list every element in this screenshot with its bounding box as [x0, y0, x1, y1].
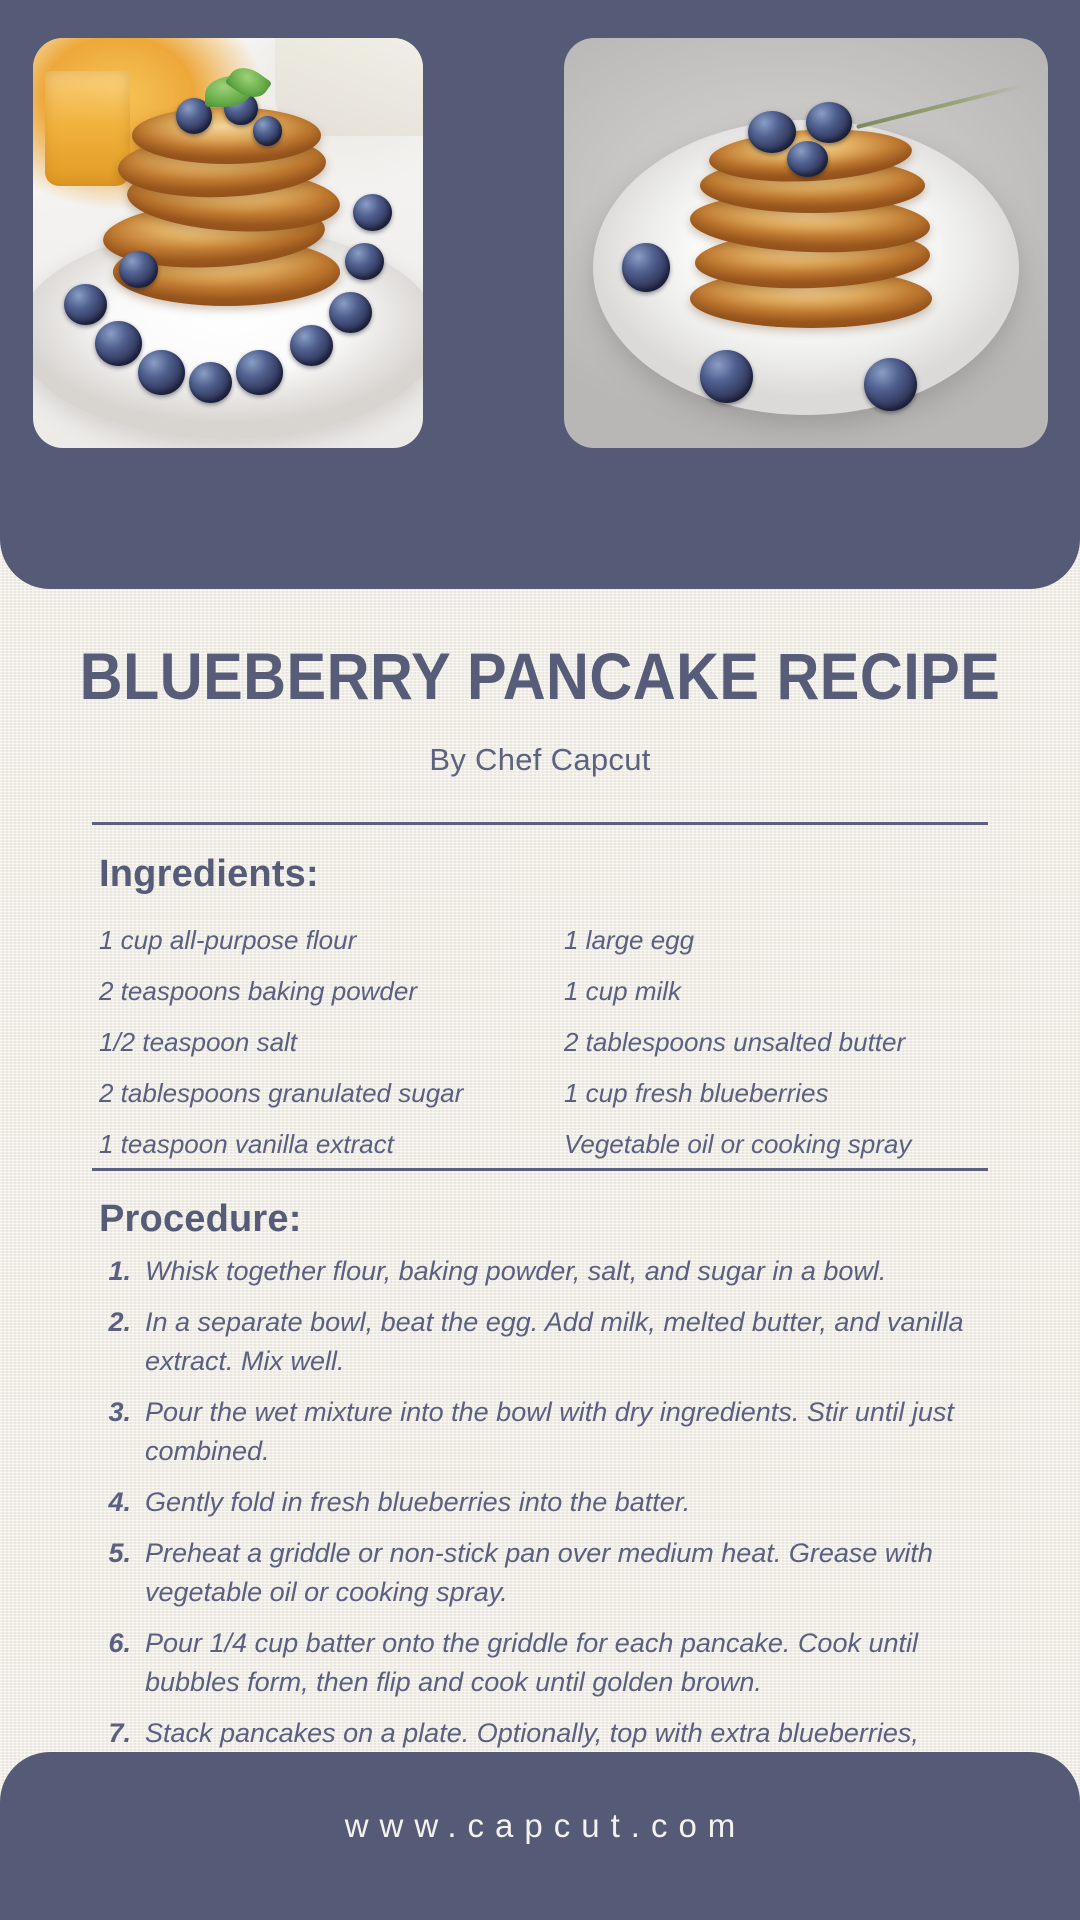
step-number: 4. — [99, 1483, 145, 1522]
header-band — [0, 0, 1080, 589]
step-text: Pour 1/4 cup batter onto the griddle for… — [145, 1624, 999, 1702]
procedure-step: 6. Pour 1/4 cup batter onto the griddle … — [99, 1624, 999, 1702]
step-number: 1. — [99, 1252, 145, 1291]
procedure-step: 2. In a separate bowl, beat the egg. Add… — [99, 1303, 999, 1381]
ingredients-heading: Ingredients: — [99, 853, 319, 896]
page-title: BLUEBERRY PANCAKE RECIPE — [54, 638, 1026, 714]
procedure-heading: Procedure: — [99, 1198, 302, 1241]
step-number: 5. — [99, 1534, 145, 1573]
ingredient-item: 1 cup fresh blueberries — [564, 1068, 979, 1119]
step-text: Whisk together flour, baking powder, sal… — [145, 1252, 999, 1291]
ingredient-item: 1 teaspoon vanilla extract — [99, 1119, 564, 1170]
ingredient-item: 2 tablespoons unsalted butter — [564, 1017, 979, 1068]
footer-band: www.capcut.com — [0, 1752, 1080, 1920]
step-number: 6. — [99, 1624, 145, 1663]
ingredient-item: 1/2 teaspoon salt — [99, 1017, 564, 1068]
step-text: In a separate bowl, beat the egg. Add mi… — [145, 1303, 999, 1381]
step-text: Gently fold in fresh blueberries into th… — [145, 1483, 999, 1522]
divider-above-procedure — [92, 1168, 988, 1171]
procedure-step: 5. Preheat a griddle or non-stick pan ov… — [99, 1534, 999, 1612]
ingredient-item: 2 tablespoons granulated sugar — [99, 1068, 564, 1119]
procedure-list: 1. Whisk together flour, baking powder, … — [99, 1252, 999, 1804]
ingredients-list: 1 cup all-purpose flour 1 large egg 2 te… — [99, 915, 979, 1170]
byline: By Chef Capcut — [0, 742, 1080, 778]
procedure-step: 1. Whisk together flour, baking powder, … — [99, 1252, 999, 1291]
divider-above-ingredients — [92, 822, 988, 825]
procedure-step: 4. Gently fold in fresh blueberries into… — [99, 1483, 999, 1522]
step-number: 7. — [99, 1714, 145, 1753]
website-url[interactable]: www.capcut.com — [0, 1807, 1080, 1845]
ingredient-item: 1 cup all-purpose flour — [99, 915, 564, 966]
ingredient-item: 1 large egg — [564, 915, 979, 966]
step-number: 3. — [99, 1393, 145, 1432]
step-text: Preheat a griddle or non-stick pan over … — [145, 1534, 999, 1612]
recipe-card: BLUEBERRY PANCAKE RECIPE By Chef Capcut … — [0, 0, 1080, 1920]
step-text: Pour the wet mixture into the bowl with … — [145, 1393, 999, 1471]
pancake-stack-on-plate-photo — [564, 38, 1048, 448]
ingredient-item: 1 cup milk — [564, 966, 979, 1017]
procedure-step: 3. Pour the wet mixture into the bowl wi… — [99, 1393, 999, 1471]
pancake-stack-with-honey-photo — [33, 38, 423, 448]
step-number: 2. — [99, 1303, 145, 1342]
ingredient-item: Vegetable oil or cooking spray — [564, 1119, 979, 1170]
ingredient-item: 2 teaspoons baking powder — [99, 966, 564, 1017]
